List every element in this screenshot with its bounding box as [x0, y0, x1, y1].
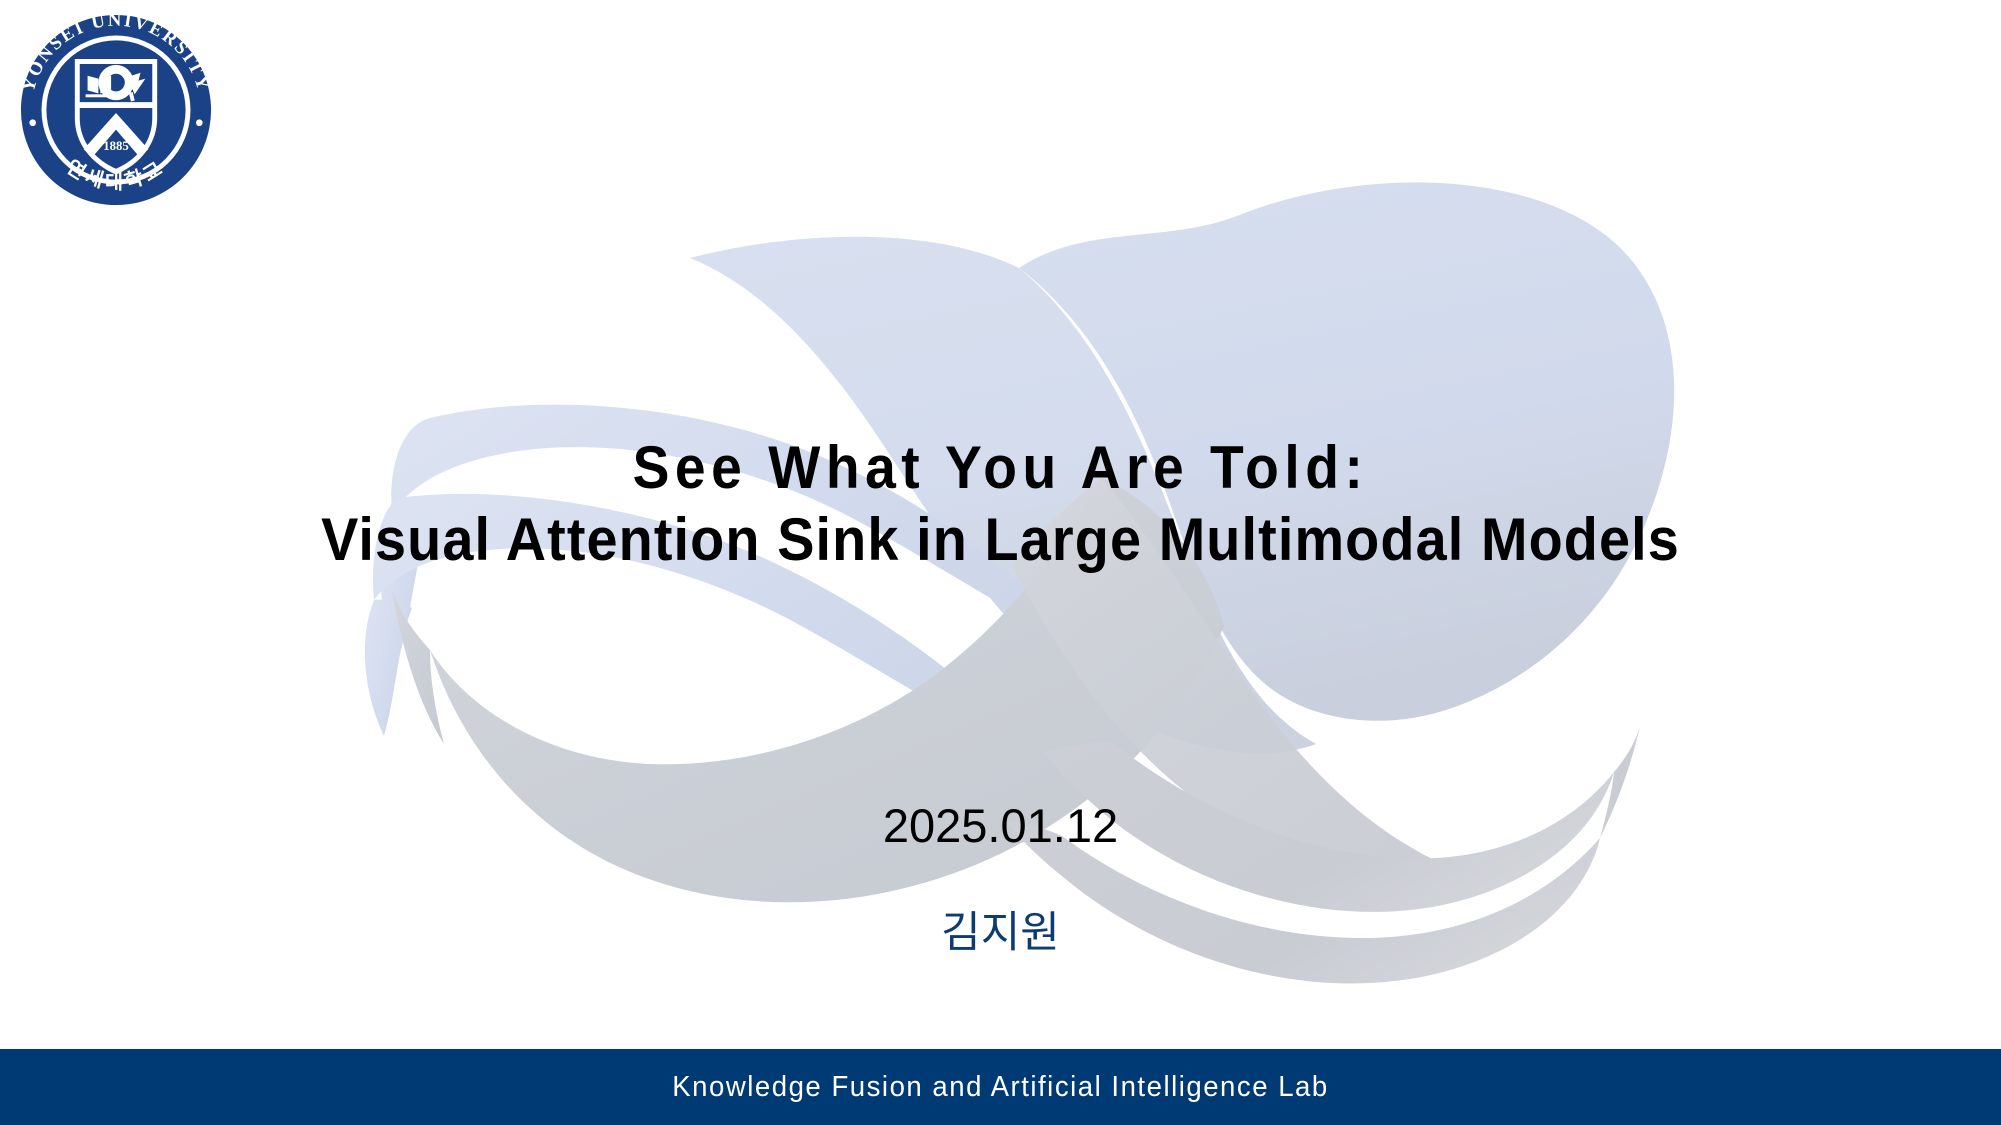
title-slide: YONSEI UNIVERSITY 연세대학교 1885: [0, 0, 2001, 1125]
logo-dot-left: [29, 119, 36, 126]
slide-title: See What You Are Told: Visual Attention …: [0, 432, 2001, 576]
logo-dot-right: [196, 119, 203, 126]
logo-year: 1885: [103, 139, 128, 153]
swoosh-blue-band-lower-tail: [365, 599, 412, 736]
presenter-name: 김지원: [0, 898, 2001, 960]
title-line-2: Visual Attention Sink in Large Multimoda…: [70, 504, 1931, 576]
footer-bar: Knowledge Fusion and Artificial Intellig…: [0, 1049, 2001, 1125]
presentation-date: 2025.01.12: [0, 798, 2001, 853]
swoosh-gray-hook-left: [392, 590, 444, 744]
yonsei-university-logo: YONSEI UNIVERSITY 연세대학교 1885: [18, 12, 214, 208]
title-line-1: See What You Are Told:: [80, 432, 1921, 504]
lab-name: Knowledge Fusion and Artificial Intellig…: [50, 1071, 1951, 1104]
